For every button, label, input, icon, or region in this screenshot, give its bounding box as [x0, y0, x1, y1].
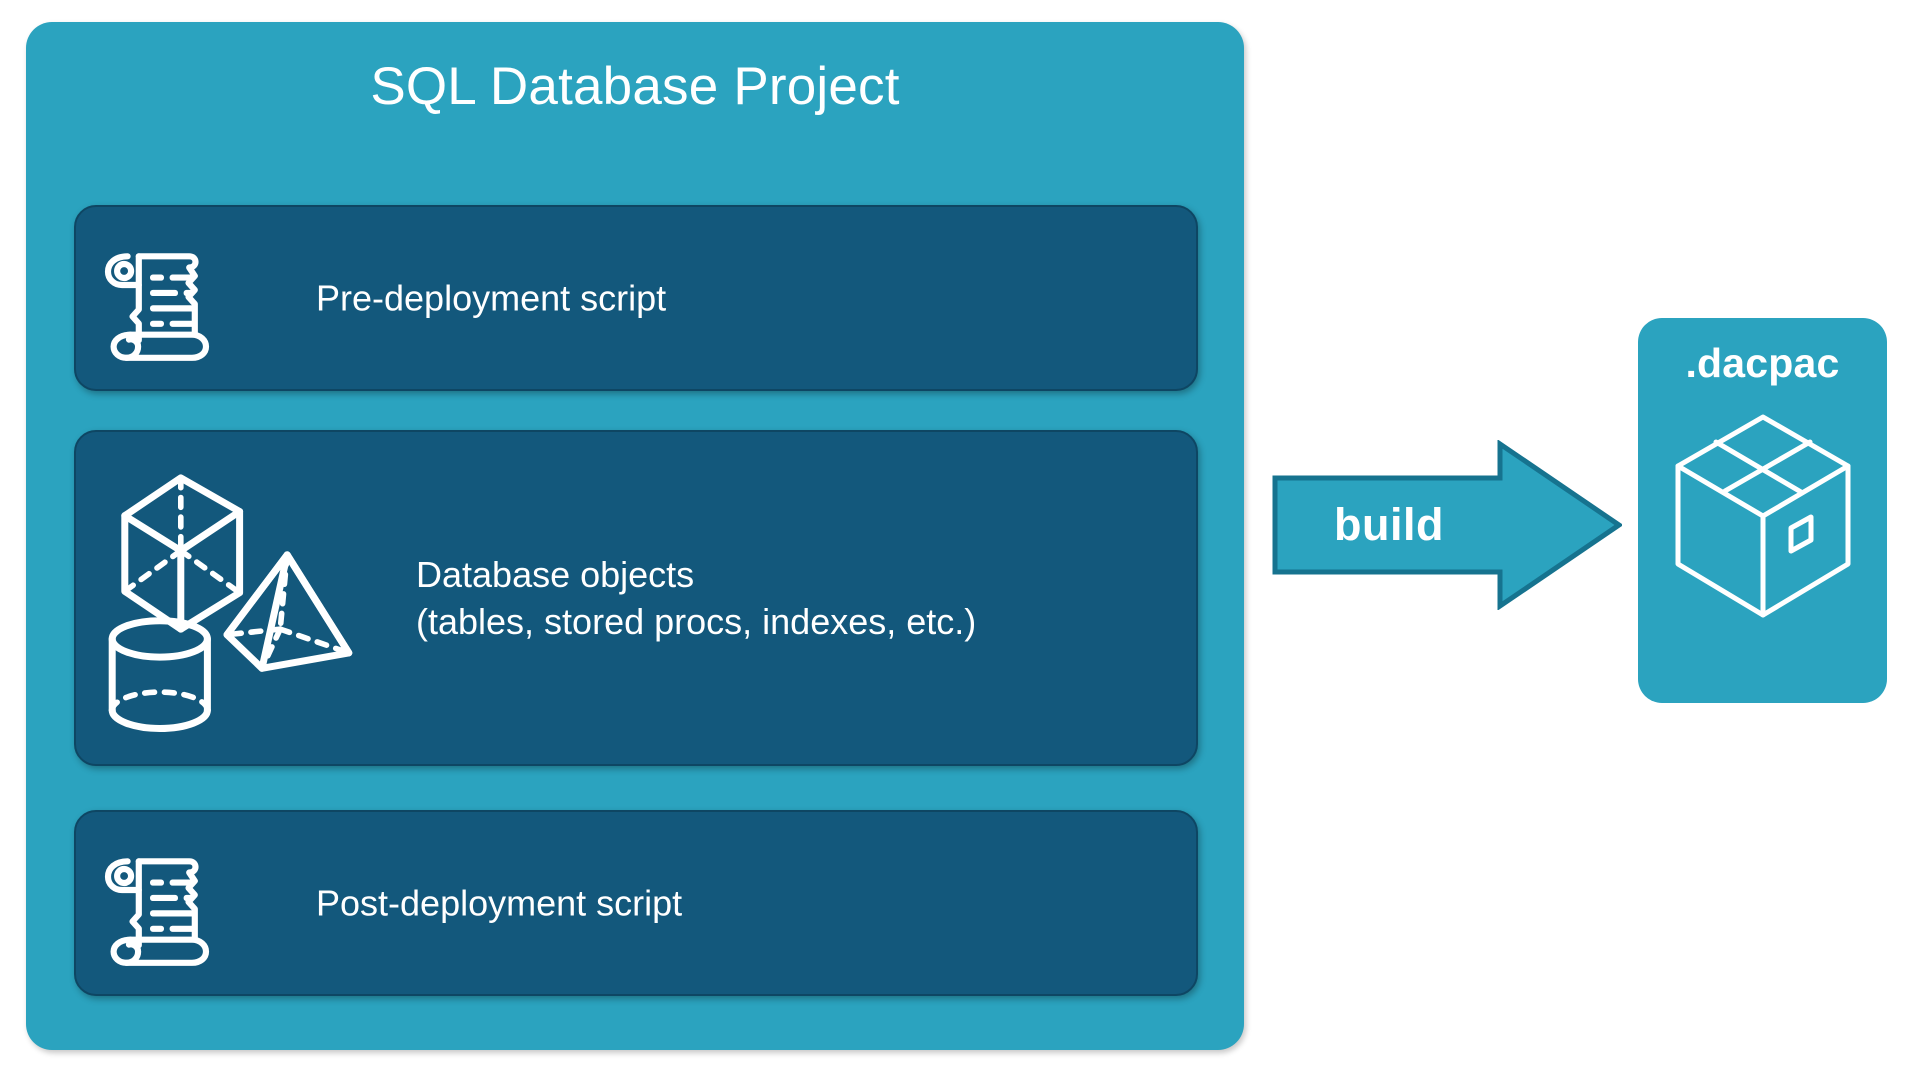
package-box-icon	[1672, 401, 1854, 636]
card-pre-deployment-script: Pre-deployment script	[74, 205, 1198, 391]
cube-icon	[125, 478, 240, 629]
scroll-icon	[94, 226, 234, 371]
card-database-objects-label: Database objects (tables, stored procs, …	[416, 551, 976, 645]
card-pre-deployment-label: Pre-deployment script	[316, 275, 666, 322]
build-arrow-label: build	[1334, 499, 1444, 551]
page-title: SQL Database Project	[26, 57, 1244, 117]
pyramid-icon	[227, 555, 349, 668]
dacpac-output-box: .dacpac	[1638, 318, 1887, 703]
card-database-objects: Database objects (tables, stored procs, …	[74, 430, 1198, 766]
cylinder-icon	[112, 621, 207, 729]
dacpac-label: .dacpac	[1638, 340, 1887, 387]
sql-database-project-container: SQL Database Project	[26, 22, 1244, 1050]
build-arrow: build	[1272, 440, 1622, 610]
card-post-deployment-script: Post-deployment script	[74, 810, 1198, 996]
scroll-icon	[94, 831, 234, 976]
3d-shapes-icon	[94, 454, 374, 749]
card-post-deployment-label: Post-deployment script	[316, 880, 682, 927]
